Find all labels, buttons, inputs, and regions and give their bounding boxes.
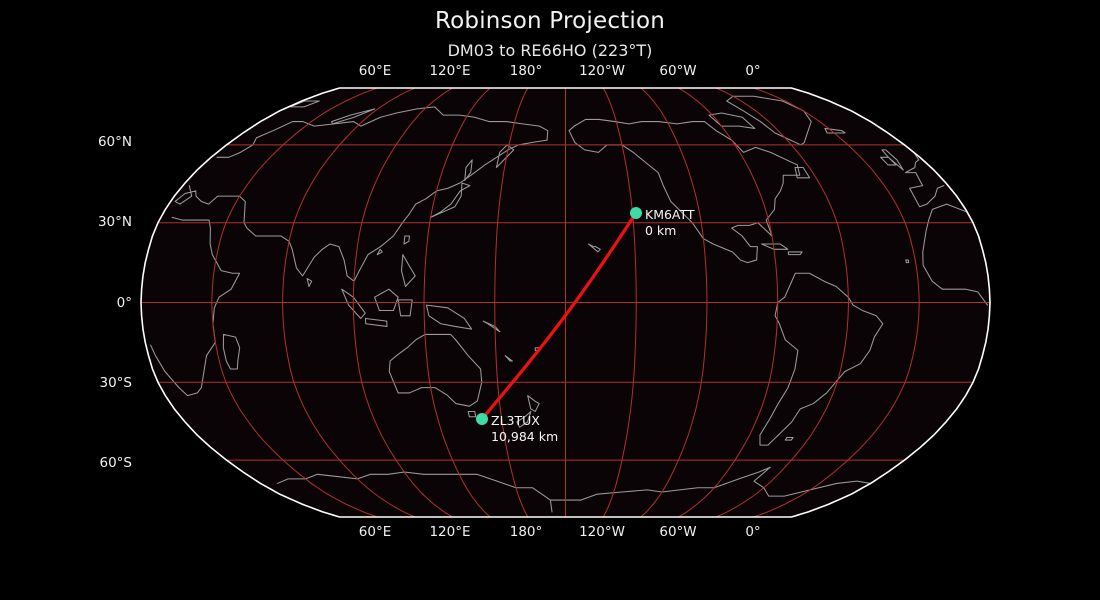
station-callsign: ZL3TUX <box>491 413 540 428</box>
lat-tick-2: 0° <box>117 295 132 311</box>
lat-tick-3: 30°S <box>100 375 133 391</box>
lat-tick-0: 60°N <box>98 134 132 150</box>
station-marker-km6att[interactable] <box>630 207 642 219</box>
lon-tick-bot-0: 60°E <box>359 524 391 540</box>
lat-tick-4: 60°S <box>100 455 133 471</box>
lon-tick-bot-3: 120°W <box>579 524 625 540</box>
lon-tick-bot-1: 120°E <box>429 524 470 540</box>
station-label-zl3tux: ZL3TUX10,984 km <box>491 413 558 445</box>
lon-tick-top-0: 60°E <box>359 63 391 79</box>
station-distance: 10,984 km <box>491 429 558 445</box>
station-distance: 0 km <box>645 223 695 239</box>
lon-tick-bot-4: 60°W <box>659 524 696 540</box>
lon-tick-top-4: 60°W <box>659 63 696 79</box>
station-callsign: KM6ATT <box>645 207 695 222</box>
lon-tick-top-1: 120°E <box>429 63 470 79</box>
station-label-km6att: KM6ATT0 km <box>645 207 695 239</box>
lat-tick-1: 30°N <box>98 214 132 230</box>
lon-tick-top-5: 0° <box>745 63 760 79</box>
map-page: Robinson Projection DM03 to RE66HO (223°… <box>0 0 1100 600</box>
station-marker-zl3tux[interactable] <box>476 413 488 425</box>
robinson-map[interactable] <box>0 0 1100 600</box>
lon-tick-top-3: 120°W <box>579 63 625 79</box>
lon-tick-bot-2: 180° <box>510 524 543 540</box>
map-canvas <box>0 0 1100 600</box>
lon-tick-bot-5: 0° <box>745 524 760 540</box>
lon-tick-top-2: 180° <box>510 63 543 79</box>
